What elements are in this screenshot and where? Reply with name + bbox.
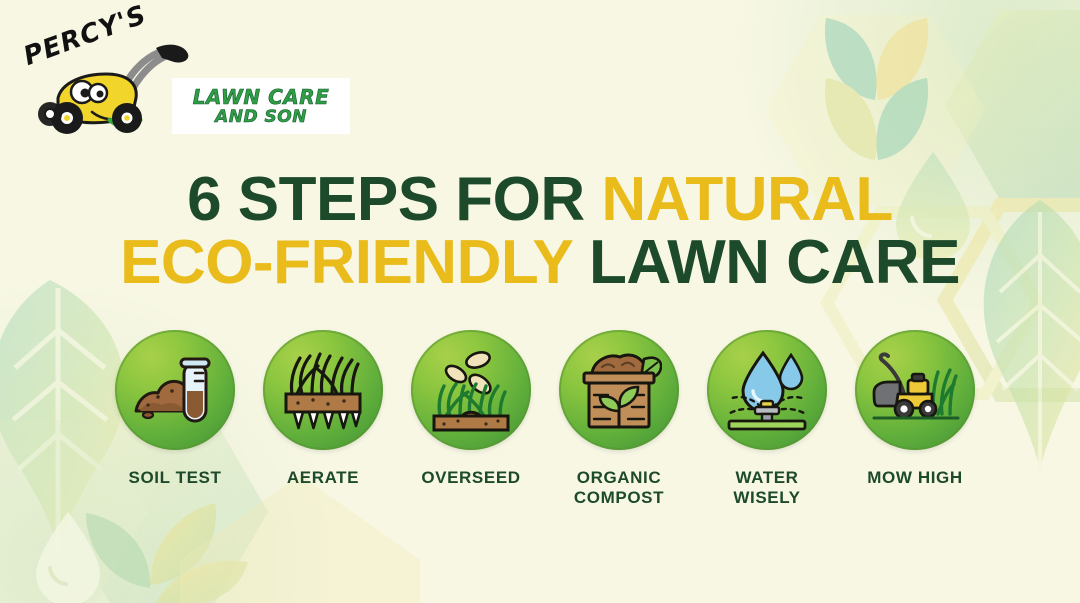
logo-banner-line-1: LAWN CARE [193, 87, 330, 107]
headline-line-1-green: 6 STEPS FOR [187, 165, 601, 234]
overseed-icon [428, 348, 514, 432]
step-label-organic-compost: ORGANIC COMPOST [574, 468, 664, 509]
page-title: 6 STEPS FOR NATURAL ECO-FRIENDLY LAWN CA… [0, 168, 1080, 294]
step-soil-test[interactable]: SOIL TEST [110, 330, 240, 488]
step-aerate[interactable]: AERATE [258, 330, 388, 488]
step-mow-high[interactable]: MOW HIGH [850, 330, 980, 488]
leaf-sprout-shape [86, 503, 248, 603]
step-badge-overseed[interactable] [411, 330, 531, 450]
step-label-soil-test: SOIL TEST [129, 468, 222, 488]
headline-line-2-green: LAWN CARE [589, 228, 960, 297]
headline-line-1-yellow: NATURAL [601, 165, 893, 234]
step-overseed[interactable]: OVERSEED [406, 330, 536, 488]
compost-bin-icon [576, 349, 662, 431]
step-label-water-wisely: WATER WISELY [733, 468, 800, 509]
step-badge-organic-compost[interactable] [559, 330, 679, 450]
step-water-wisely[interactable]: WATER WISELY [702, 330, 832, 509]
veined-leaf-shape [0, 280, 125, 550]
aerate-icon [280, 350, 366, 430]
step-badge-water-wisely[interactable] [707, 330, 827, 450]
step-label-mow-high: MOW HIGH [867, 468, 962, 488]
brand-logo: PERCY'S [24, 20, 344, 140]
soil-test-icon [132, 351, 218, 429]
sprinkler-icon [723, 349, 811, 431]
lawn-mower-icon [870, 350, 960, 430]
headline-line-1: 6 STEPS FOR NATURAL [0, 168, 1080, 231]
step-organic-compost[interactable]: ORGANIC COMPOST [554, 330, 684, 509]
headline-line-2-yellow: ECO-FRIENDLY [120, 228, 589, 297]
logo-banner: LAWN CARE AND SON [172, 78, 350, 134]
poster-canvas: PERCY'S [0, 0, 1080, 603]
logo-banner-line-2: AND SON [215, 109, 307, 126]
step-label-aerate: AERATE [287, 468, 359, 488]
step-badge-soil-test[interactable] [115, 330, 235, 450]
water-droplet-shape [36, 512, 100, 603]
step-badge-mow-high[interactable] [855, 330, 975, 450]
steps-row: SOIL TEST [110, 330, 980, 509]
step-label-overseed: OVERSEED [421, 468, 520, 488]
headline-line-2: ECO-FRIENDLY LAWN CARE [0, 231, 1080, 294]
step-badge-aerate[interactable] [263, 330, 383, 450]
